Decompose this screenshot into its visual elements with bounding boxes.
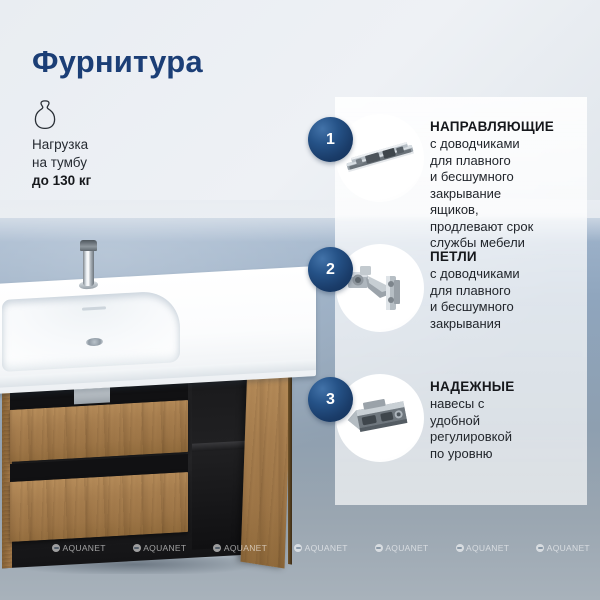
feature-text-3: НАДЕЖНЫЕ навесы с удобной регулировкой п… xyxy=(430,379,600,462)
load-capacity-block: Нагрузка на тумбу до 130 кг xyxy=(32,100,192,190)
feature-number-badge-3: 3 xyxy=(308,377,353,422)
drawer-handle-notch xyxy=(74,387,110,404)
feature-number-2: 2 xyxy=(308,247,353,292)
feature-heading-2: ПЕТЛИ xyxy=(430,249,600,265)
feature-body-3: навесы с удобной регулировкой по уровню xyxy=(430,396,600,462)
feature-heading-1: НАПРАВЛЯЮЩИЕ xyxy=(430,119,600,135)
feature-text-2: ПЕТЛИ с доводчиками для плавного и бесшу… xyxy=(430,249,600,332)
drawer-lower xyxy=(10,472,188,542)
load-label-line1: Нагрузка xyxy=(32,136,192,154)
feature-number-3: 3 xyxy=(308,377,353,422)
drawer-upper xyxy=(10,400,188,462)
faucet-head xyxy=(80,240,97,251)
vanity-cabinet xyxy=(2,366,302,573)
feature-text-1: НАПРАВЛЯЮЩИЕ с доводчиками для плавного … xyxy=(430,119,600,252)
feature-body-2: с доводчиками для плавного и бесшумного … xyxy=(430,266,600,332)
feature-body-1: с доводчиками для плавного и бесшумного … xyxy=(430,136,600,252)
feature-heading-3: НАДЕЖНЫЕ xyxy=(430,379,600,395)
page-title: Фурнитура xyxy=(32,44,203,80)
sink-basin xyxy=(2,290,180,372)
cabinet-door-open xyxy=(241,363,292,569)
kettlebell-icon xyxy=(32,100,58,130)
feature-number-1: 1 xyxy=(308,117,353,162)
infographic-page: Фурнитура Нагрузка на тумбу до 130 кг 1 xyxy=(0,0,600,600)
feature-number-badge-2: 2 xyxy=(308,247,353,292)
cabinet-door-edge xyxy=(288,368,292,565)
product-vanity-image xyxy=(0,240,324,570)
load-label-line2: на тумбу xyxy=(32,154,192,172)
load-value: до 130 кг xyxy=(32,172,192,190)
feature-number-badge-1: 1 xyxy=(308,117,353,162)
